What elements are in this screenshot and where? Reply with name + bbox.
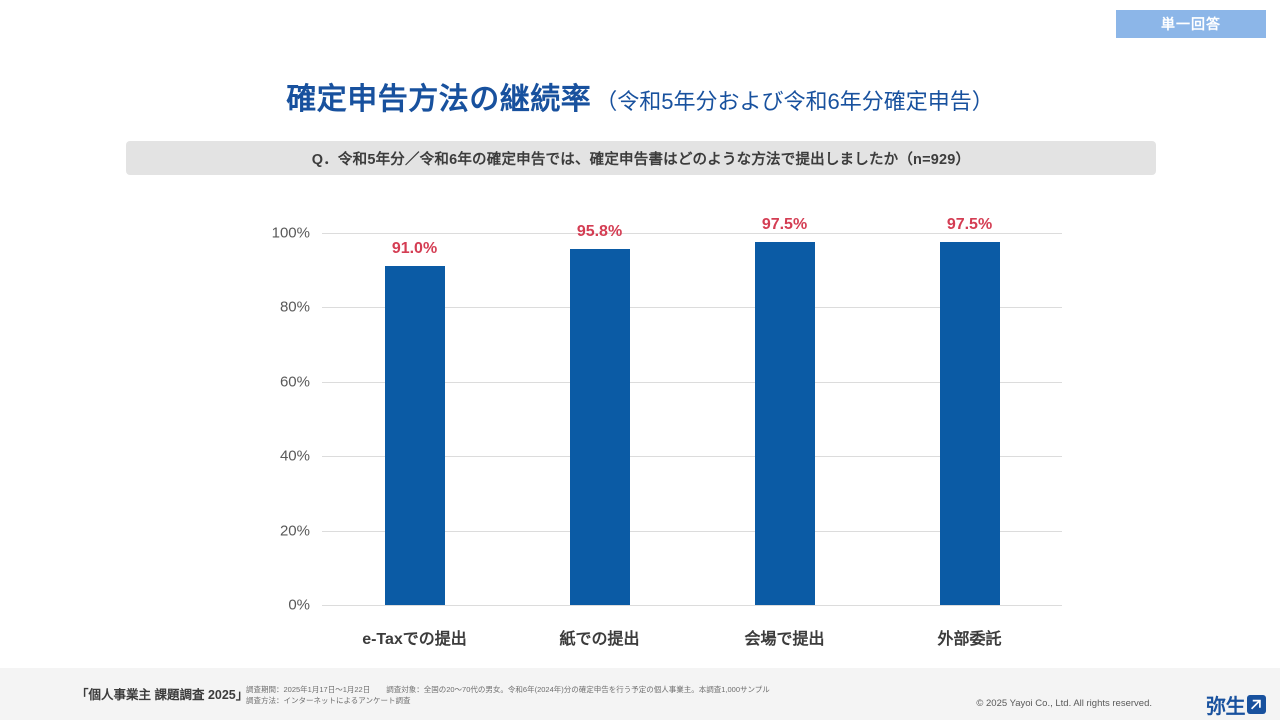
chart-bar-value-label: 97.5% <box>762 216 807 234</box>
footer: 「個人事業主 課題調査 2025」 調査期間：2025年1月17日〜1月22日調… <box>0 668 1280 720</box>
copyright-text: © 2025 Yayoi Co., Ltd. All rights reserv… <box>976 698 1152 709</box>
chart-bar <box>570 249 630 605</box>
footer-notes-line2: 調査方法：インターネットによるアンケート調査 <box>246 695 770 706</box>
chart-bar <box>755 242 815 605</box>
chart-y-tick-label: 40% <box>240 448 310 465</box>
chart-y-tick-label: 100% <box>240 225 310 242</box>
arrow-up-right-icon <box>1247 695 1266 714</box>
footer-note-target: 調査対象：全国の20〜70代の男女。令和6年(2024年)分の確定申告を行う予定… <box>386 685 770 694</box>
footer-notes: 調査期間：2025年1月17日〜1月22日調査対象：全国の20〜70代の男女。令… <box>246 684 770 706</box>
footer-survey-title: 「個人事業主 課題調査 2025」 <box>76 684 248 703</box>
bar-chart: 100%80%60%40%20%0% 91.0%e-Taxでの提出95.8%紙で… <box>232 225 1062 605</box>
chart-category-label: 会場で提出 <box>744 625 824 649</box>
chart-gridline <box>322 605 1062 606</box>
chart-bar-group: 97.5%外部委託 <box>877 233 1062 605</box>
chart-category-label: 外部委託 <box>937 625 1001 649</box>
chart-bar-group: 97.5%会場で提出 <box>692 233 877 605</box>
chart-bar-group: 91.0%e-Taxでの提出 <box>322 233 507 605</box>
chart-bar-group: 95.8%紙での提出 <box>507 233 692 605</box>
answer-type-badge-label: 単一回答 <box>1161 14 1221 34</box>
yayoi-logo: 弥生 <box>1206 690 1266 719</box>
chart-y-tick-label: 20% <box>240 522 310 539</box>
chart-bar-value-label: 95.8% <box>577 223 622 241</box>
chart-bar <box>940 242 1000 605</box>
question-text: Q．令和5年分／令和6年の確定申告では、確定申告書はどのような方法で提出しました… <box>312 148 971 169</box>
answer-type-badge: 単一回答 <box>1116 10 1266 38</box>
chart-y-tick-label: 80% <box>240 299 310 316</box>
yayoi-logo-text: 弥生 <box>1206 690 1245 719</box>
chart-category-label: e-Taxでの提出 <box>362 625 467 649</box>
chart-y-tick-label: 0% <box>240 597 310 614</box>
chart-bar <box>385 266 445 605</box>
page-title-main: 確定申告方法の継続率 <box>286 83 591 116</box>
footer-note-method: 調査方法：インターネットによるアンケート調査 <box>246 696 410 705</box>
page-title: 確定申告方法の継続率（令和5年分および令和6年分確定申告） <box>0 74 1280 118</box>
page-title-sub: （令和5年分および令和6年分確定申告） <box>595 89 993 114</box>
chart-y-tick-label: 60% <box>240 373 310 390</box>
chart-bar-value-label: 97.5% <box>947 216 992 234</box>
chart-bar-value-label: 91.0% <box>392 240 437 258</box>
chart-category-label: 紙での提出 <box>559 625 639 649</box>
footer-note-period: 調査期間：2025年1月17日〜1月22日 <box>246 685 370 694</box>
question-bar: Q．令和5年分／令和6年の確定申告では、確定申告書はどのような方法で提出しました… <box>126 141 1156 175</box>
chart-plot-area: 100%80%60%40%20%0% 91.0%e-Taxでの提出95.8%紙で… <box>322 233 1062 605</box>
footer-notes-line1: 調査期間：2025年1月17日〜1月22日調査対象：全国の20〜70代の男女。令… <box>246 684 770 695</box>
